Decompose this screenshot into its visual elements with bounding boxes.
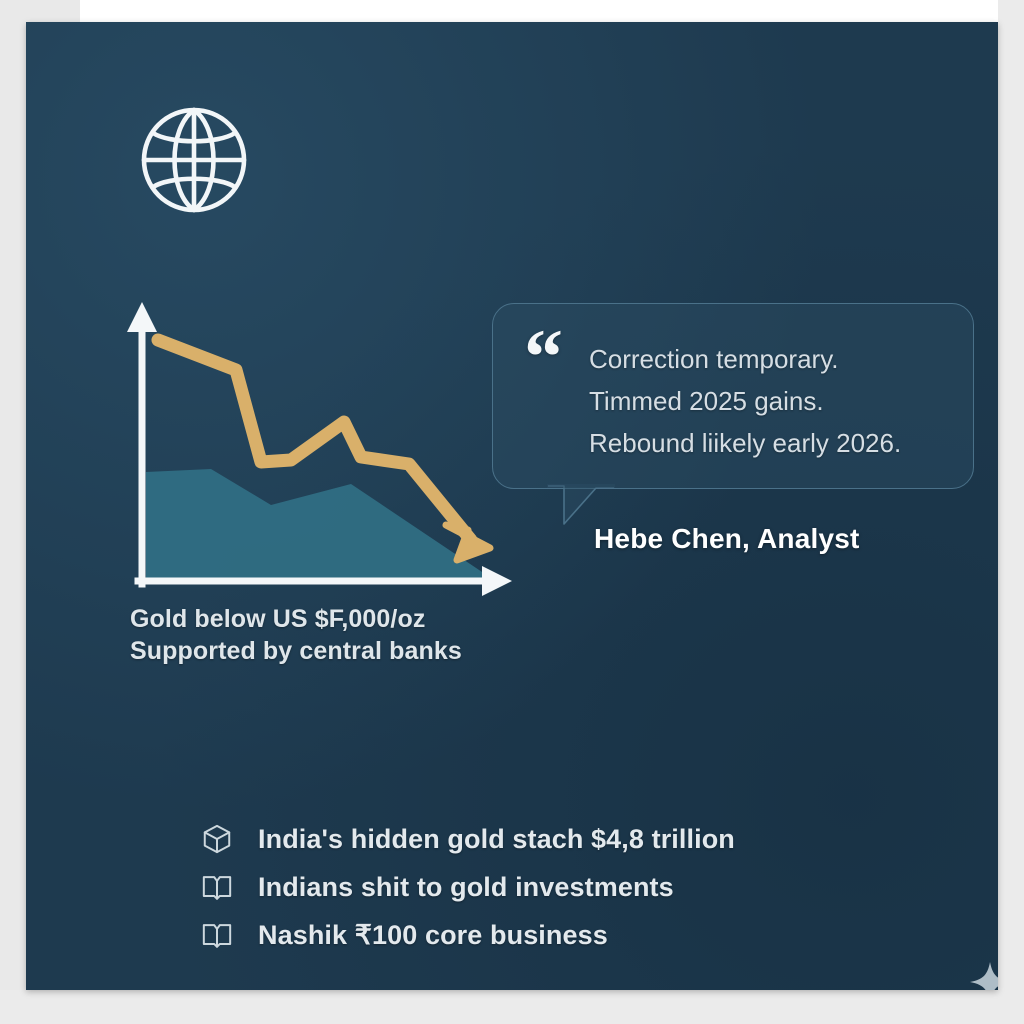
chart-x-axis-arrow xyxy=(482,566,512,596)
open-book-icon xyxy=(196,918,238,952)
list-item-label: India's hidden gold stach $4,8 trillion xyxy=(258,824,735,855)
chart-y-axis-arrow xyxy=(127,302,157,332)
list-item-label: Nashik ₹100 core business xyxy=(258,920,608,951)
gold-price-chart xyxy=(116,292,526,602)
chart-area-series xyxy=(146,469,494,580)
open-book-icon xyxy=(196,870,238,904)
facts-list: India's hidden gold stach $4,8 trillion … xyxy=(196,815,856,959)
globe-icon xyxy=(134,100,254,220)
chart-caption: Gold below US $F,000/oz Supported by cen… xyxy=(130,603,560,667)
cube-icon xyxy=(196,822,238,856)
page-margin-bottom xyxy=(0,990,1024,1024)
list-item: Indians shit to gold investments xyxy=(196,863,856,911)
screenshot-canvas: Gold below US $F,000/oz Supported by cen… xyxy=(0,0,1024,1024)
quote-attribution: Hebe Chen, Analyst xyxy=(594,523,860,555)
quote-text: Correction temporary. Timmed 2025 gains.… xyxy=(589,338,969,464)
quote-mark-icon: “ xyxy=(524,318,561,396)
sparkle-icon xyxy=(968,960,998,990)
quote-line-2: Timmed 2025 gains. xyxy=(589,380,969,422)
list-item: Nashik ₹100 core business xyxy=(196,911,856,959)
quote-line-1: Correction temporary. xyxy=(589,338,969,380)
page-margin-right xyxy=(998,0,1024,1024)
list-item: India's hidden gold stach $4,8 trillion xyxy=(196,815,856,863)
chart-caption-line-2: Supported by central banks xyxy=(130,635,560,667)
list-item-label: Indians shit to gold investments xyxy=(258,872,674,903)
page-margin-top xyxy=(80,0,1000,22)
infographic-card: Gold below US $F,000/oz Supported by cen… xyxy=(26,22,998,990)
chart-caption-line-1: Gold below US $F,000/oz xyxy=(130,603,560,635)
quote-line-3: Rebound liikely early 2026. xyxy=(589,422,969,464)
